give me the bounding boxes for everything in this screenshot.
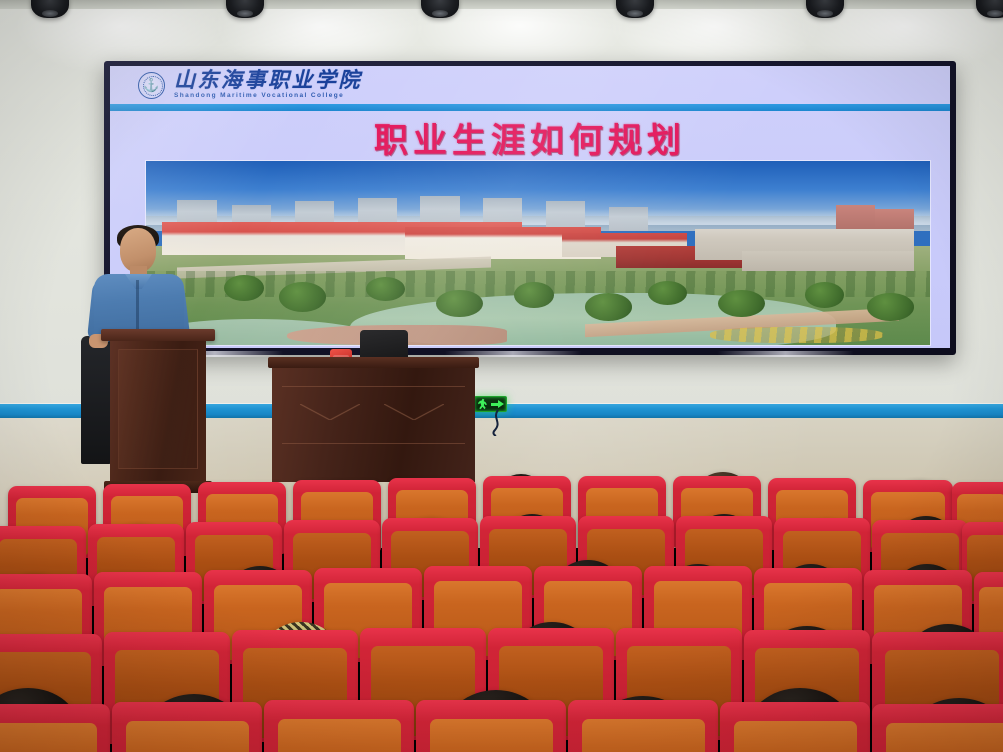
auditorium-seat[interactable] (416, 700, 566, 752)
photo-tree (805, 282, 844, 308)
lectern-top (101, 329, 215, 341)
photo-tree (514, 282, 553, 308)
institution-name-en: Shandong Maritime Vocational College (174, 93, 362, 100)
anchor-icon: ⚓ (143, 79, 159, 92)
photo-highrise-cluster (609, 207, 648, 231)
screen-mount-reflections (104, 351, 956, 357)
slide-title-text: 职业生涯如何规划 (374, 113, 686, 162)
campus-aerial-photo (146, 161, 930, 345)
photo-tree (366, 277, 405, 301)
auditorium-seat[interactable] (0, 704, 110, 752)
photo-flowerbed (710, 327, 882, 344)
seat-back-cushion (430, 719, 553, 752)
arrow-right-icon (491, 400, 504, 409)
stage-table-top (268, 357, 479, 368)
table-chevron-right (384, 404, 444, 420)
emergency-exit-icon (478, 399, 489, 410)
table-chevron-left (300, 404, 360, 420)
photo-highrise-cluster (875, 209, 914, 229)
auditorium-seat[interactable] (112, 702, 262, 752)
presentation-screen[interactable]: ⚓ 山东海事职业学院 Shandong Maritime Vocational … (104, 61, 956, 355)
seat-back-cushion (582, 719, 705, 752)
institution-name-cn: 山东海事职业学院 (174, 70, 362, 91)
photo-tree (279, 282, 326, 311)
photo-tree (648, 281, 687, 305)
auditorium-scene: ⚓ 山东海事职业学院 Shandong Maritime Vocational … (0, 0, 1003, 752)
ceiling-edge (0, 0, 1003, 9)
photo-building-grey-wing (742, 251, 914, 271)
auditorium-seat[interactable] (568, 700, 718, 752)
photo-tree (224, 275, 263, 301)
slide-header: ⚓ 山东海事职业学院 Shandong Maritime Vocational … (110, 66, 950, 104)
seat-back-cushion (278, 719, 401, 752)
seat-back-cushion (886, 723, 1003, 752)
audience-seating (0, 440, 1003, 752)
maritime-college-seal-icon: ⚓ (138, 72, 165, 99)
slide-title: 职业生涯如何规划 (110, 115, 950, 160)
slide-header-rule (110, 104, 950, 111)
institution-name: 山东海事职业学院 Shandong Maritime Vocational Co… (174, 70, 362, 100)
photo-highrise-cluster (836, 205, 875, 229)
photo-highrise-cluster (546, 201, 585, 229)
table-trim-upper (282, 386, 465, 387)
seat-back-cushion (0, 723, 97, 752)
seat-back-cushion (126, 721, 249, 752)
slide-surface: ⚓ 山东海事职业学院 Shandong Maritime Vocational … (110, 66, 950, 348)
auditorium-seat[interactable] (872, 704, 1003, 752)
seat-back-cushion (734, 721, 857, 752)
photo-tree (585, 293, 632, 321)
auditorium-seat[interactable] (264, 700, 414, 752)
auditorium-seat[interactable] (720, 702, 870, 752)
hanging-cable (488, 410, 506, 436)
